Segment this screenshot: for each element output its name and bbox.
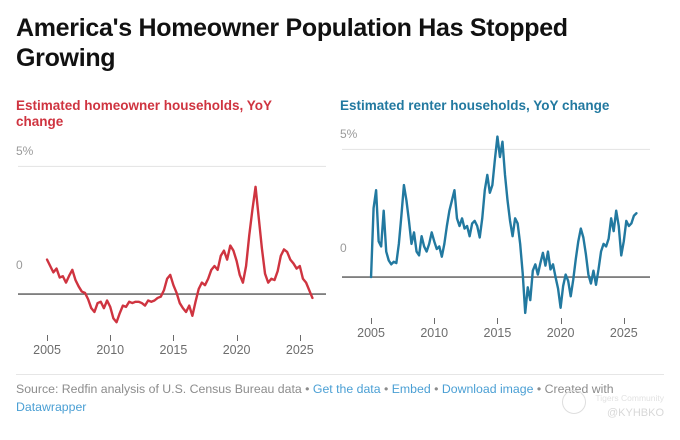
- x-tick-mark: [237, 335, 238, 341]
- footer-separator-4: •: [537, 382, 541, 396]
- download-image-link[interactable]: Download image: [442, 382, 534, 396]
- x-tick-mark: [434, 318, 435, 324]
- x-tick-mark: [624, 318, 625, 324]
- x-axis-homeowner: 20052010201520202025: [16, 335, 326, 365]
- x-tick-label: 2015: [484, 326, 512, 340]
- plot-wrap-renter: 5% 0 20052010201520202025: [340, 120, 664, 352]
- data-line-homeowner: [47, 187, 312, 322]
- x-tick-mark: [110, 335, 111, 341]
- datawrapper-link[interactable]: Datawrapper: [16, 400, 86, 414]
- data-line-renter: [371, 137, 636, 313]
- x-tick-label: 2005: [357, 326, 385, 340]
- panel-renter: Estimated renter households, YoY change …: [340, 98, 664, 369]
- x-tick-label: 2010: [420, 326, 448, 340]
- x-tick-label: 2025: [286, 343, 314, 357]
- x-tick-label: 2010: [96, 343, 124, 357]
- x-tick-mark: [47, 335, 48, 341]
- get-the-data-link[interactable]: Get the data: [313, 382, 381, 396]
- footer-separator-1: •: [305, 382, 309, 396]
- x-tick-mark: [173, 335, 174, 341]
- x-tick-label: 2020: [547, 326, 575, 340]
- page-title: America's Homeowner Population Has Stopp…: [16, 0, 636, 73]
- footer-source-text: Source: Redfin analysis of U.S. Census B…: [16, 382, 302, 396]
- charts-container: Estimated homeowner households, YoY chan…: [16, 98, 664, 369]
- x-tick-label: 2025: [610, 326, 638, 340]
- footer-divider: [16, 374, 664, 375]
- x-tick-mark: [497, 318, 498, 324]
- embed-link[interactable]: Embed: [392, 382, 431, 396]
- chart-page: America's Homeowner Population Has Stopp…: [0, 0, 680, 440]
- x-axis-renter: 20052010201520202025: [340, 318, 650, 348]
- footer-created-prefix: Created with: [545, 382, 614, 396]
- panel-title-homeowner: Estimated homeowner households, YoY chan…: [16, 98, 316, 131]
- x-tick-label: 2020: [223, 343, 251, 357]
- panel-homeowner: Estimated homeowner households, YoY chan…: [16, 98, 340, 369]
- footer: Source: Redfin analysis of U.S. Census B…: [16, 381, 664, 417]
- x-tick-mark: [561, 318, 562, 324]
- panel-title-renter: Estimated renter households, YoY change: [340, 98, 640, 114]
- footer-separator-2: •: [384, 382, 388, 396]
- footer-separator-3: •: [434, 382, 438, 396]
- plot-wrap-homeowner: 5% 0 20052010201520202025: [16, 137, 340, 369]
- x-tick-mark: [371, 318, 372, 324]
- x-tick-label: 2015: [160, 343, 188, 357]
- x-tick-mark: [300, 335, 301, 341]
- x-tick-label: 2005: [33, 343, 61, 357]
